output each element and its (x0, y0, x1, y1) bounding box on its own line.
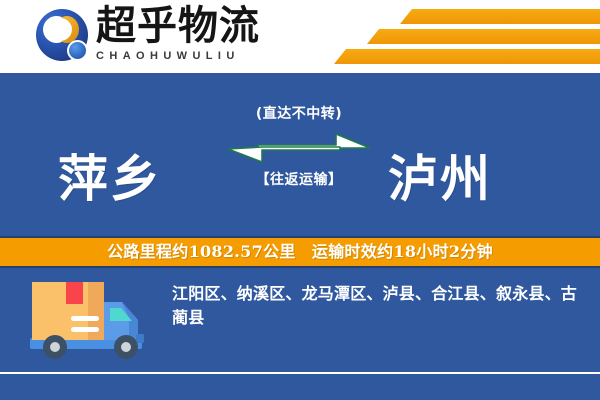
logistics-route-banner: 超乎物流 CHAOHUWULIU 萍乡 (直达不中转) 【往返运输】 (0, 0, 600, 400)
logo-crescent-cut (48, 18, 72, 41)
coverage-section: 江阳区、纳溪区、龙马潭区、泸县、合江县、叙永县、古蔺县 (0, 268, 600, 372)
route-info-bar: 公路里程约1082.57公里 运输时效约18小时2分钟 (0, 236, 600, 268)
bidirectional-arrows-icon (224, 129, 374, 167)
stripe-1 (400, 9, 600, 24)
route-note-roundtrip: 【往返运输】 (224, 171, 374, 189)
brand-name-block: 超乎物流 CHAOHUWULIU (96, 4, 296, 63)
header-stripes-decoration (310, 6, 600, 70)
delivery-truck-icon (26, 276, 158, 364)
route-middle-block: (直达不中转) 【往返运输】 (224, 105, 374, 189)
origin-city: 萍乡 (58, 151, 162, 207)
brand-name-en: CHAOHUWULIU (96, 50, 296, 63)
route-info-summary: 公路里程约1082.57公里 运输时效约18小时2分钟 (107, 242, 493, 262)
stripe-2 (367, 29, 600, 44)
stripe-3 (334, 49, 600, 64)
bottom-band (0, 374, 600, 400)
brand-header: 超乎物流 CHAOHUWULIU (0, 0, 600, 73)
destination-city: 泸州 (388, 151, 492, 207)
brand-name-cn: 超乎物流 (96, 4, 296, 48)
logo-accent-dot (67, 40, 88, 61)
route-note-direct: (直达不中转) (224, 105, 374, 123)
route-panel: 萍乡 (直达不中转) 【往返运输】 泸州 (0, 73, 600, 236)
circle-moon-logo-icon (36, 9, 92, 65)
coverage-districts-text: 江阳区、纳溪区、龙马潭区、泸县、合江县、叙永县、古蔺县 (172, 282, 578, 330)
